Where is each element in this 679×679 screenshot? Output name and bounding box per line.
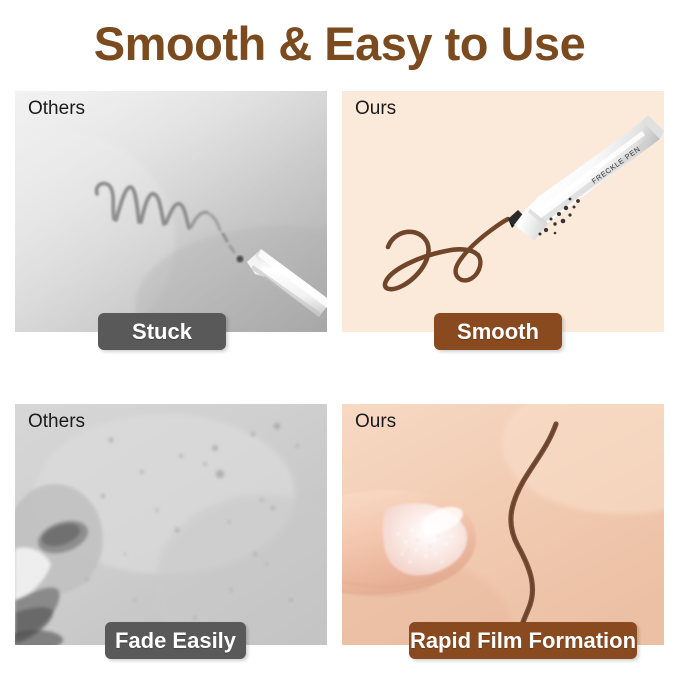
panel-artwork-others-stuck [15, 91, 327, 332]
corner-label-ours-bottom: Ours [355, 411, 396, 433]
promo-graphic: Smooth & Easy to Use [0, 0, 679, 679]
panel-ours-rapid: Ours [342, 404, 664, 645]
panel-artwork-ours-smooth: FRECKLE PEN [342, 91, 664, 332]
panel-ours-smooth: FRECKLE PEN Ours [342, 91, 664, 332]
corner-label-ours-top: Ours [355, 98, 396, 120]
badge-rapid-film-formation: Rapid Film Formation [409, 622, 637, 659]
panel-others-stuck: Others [15, 91, 327, 332]
badge-stuck: Stuck [98, 313, 226, 350]
panel-artwork-others-fade [15, 404, 327, 645]
corner-label-others-top: Others [28, 98, 85, 120]
corner-label-others-bottom: Others [28, 411, 85, 433]
page-title: Smooth & Easy to Use [0, 16, 679, 71]
panel-others-fade: Others [15, 404, 327, 645]
panel-artwork-ours-rapid [342, 404, 664, 645]
badge-smooth: Smooth [434, 313, 562, 350]
badge-fade-easily: Fade Easily [105, 622, 246, 659]
